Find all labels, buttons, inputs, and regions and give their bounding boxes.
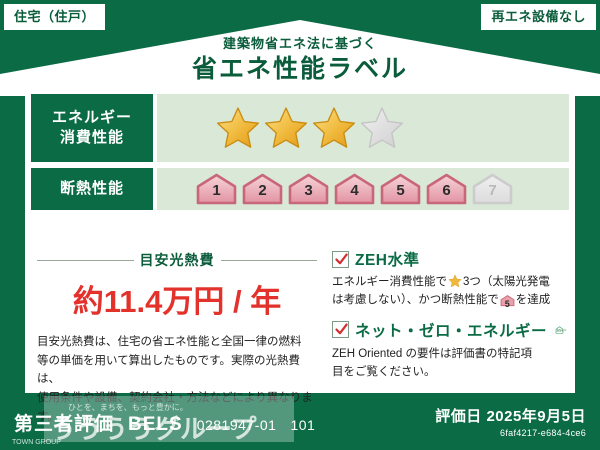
zeh-body-mid2: は考慮しない）、かつ断熱性能で — [332, 294, 499, 306]
check-item-net-zero-energy: ネット・ゼロ・エネルギー ZEH ZEH Oriented の要件は評価書の特記… — [332, 318, 567, 382]
footer-third-party-label: 第三者評価 — [14, 409, 114, 436]
cost-note-line1: 目安光熱費は、住宅の省エネ性能と全国一律の燃料 — [37, 333, 317, 352]
insulation-performance-value: 1234567 — [157, 168, 569, 210]
star-empty-icon — [359, 105, 405, 151]
footer-date-value: 2025年9月5日 — [486, 408, 586, 425]
svg-text:ZEH: ZEH — [557, 329, 563, 333]
check-body-zeh-level: エネルギー消費性能で3つ（太陽光発電 は考慮しない）、かつ断熱性能で5を達成 — [332, 273, 567, 314]
net-zero-line1: ZEH Oriented の要件は評価書の特記項 — [332, 345, 567, 363]
footer-right: 評価日 2025年9月5日 6faf4217-e684-4ce6 — [435, 405, 586, 438]
energy-label-line1: エネルギー — [52, 108, 132, 128]
watermark-subtext: TOWN GROUP — [12, 439, 61, 446]
check-title-net-zero: ネット・ゼロ・エネルギー — [355, 319, 547, 341]
footer-evaluation-date: 評価日 2025年9月5日 — [435, 405, 586, 426]
grade-value: 2 — [241, 182, 284, 199]
insulation-grade-filled: 5 — [379, 173, 422, 205]
check-item-zeh-level: ZEH水準 エネルギー消費性能で3つ（太陽光発電 は考慮しない）、かつ断熱性能で… — [332, 248, 567, 314]
insulation-grade-scale: 1234567 — [195, 173, 514, 205]
insulation-grade-filled: 2 — [241, 173, 284, 205]
insulation-grade-filled: 4 — [333, 173, 376, 205]
footer-date-label: 評価日 — [435, 408, 482, 425]
cost-column: 目安光熱費 約11.4万円 / 年 目安光熱費は、住宅の省エネ性能と全国一律の燃… — [25, 240, 325, 393]
energy-label-root: 住宅（住戸） 再エネ設備なし 建築物省エネ法に基づく 省エネ性能ラベル エネルギ… — [0, 0, 600, 450]
star-filled-icon — [311, 105, 357, 151]
grade-value: 5 — [379, 182, 422, 199]
check-head-net-zero: ネット・ゼロ・エネルギー ZEH — [332, 318, 567, 342]
zeh-logo-icon: ZEH — [555, 318, 567, 342]
energy-performance-label: エネルギー 消費性能 — [31, 94, 153, 162]
zeh-body-post: を達成 — [516, 294, 551, 306]
footer-uuid: 6faf4217-e684-4ce6 — [435, 428, 586, 438]
grade-value: 4 — [333, 182, 376, 199]
checkbox-checked-icon — [332, 251, 349, 268]
insulation-grade-filled: 1 — [195, 173, 238, 205]
energy-performance-value — [157, 94, 569, 162]
inline-grade-value: 5 — [500, 297, 515, 311]
cost-note-line2: 等の単価を用いて算出したものです。実際の光熱費は、 — [37, 352, 317, 389]
insulation-grade-filled: 3 — [287, 173, 330, 205]
rule-right — [221, 260, 318, 261]
net-zero-line2: 目をご覧ください。 — [332, 363, 567, 381]
zeh-body-pre: エネルギー消費性能で — [332, 276, 447, 288]
title-subtitle: 建築物省エネ法に基づく — [0, 36, 600, 52]
insulation-performance-label: 断熱性能 — [31, 168, 153, 210]
grade-value: 7 — [471, 182, 514, 199]
certification-column: ZEH水準 エネルギー消費性能で3つ（太陽光発電 は考慮しない）、かつ断熱性能で… — [325, 240, 575, 393]
rule-left — [37, 260, 134, 261]
footer-evaluation-number: 0281947-01 — [197, 417, 277, 433]
grade-value: 3 — [287, 182, 330, 199]
check-title-zeh-level: ZEH水準 — [355, 248, 420, 270]
badge-renewable-equipment: 再エネ設備なし — [481, 4, 596, 30]
energy-performance-row: エネルギー 消費性能 — [25, 88, 575, 162]
grade-value: 1 — [195, 182, 238, 199]
cost-heading-text: 目安光熱費 — [140, 250, 215, 270]
inline-star-icon — [448, 274, 462, 288]
checkbox-checked-icon — [332, 321, 349, 338]
star-filled-icon — [263, 105, 309, 151]
label-card: エネルギー 消費性能 断熱性能 1234567 目安光熱費 約11.4万 — [25, 88, 575, 393]
footer-bels-label: BELS — [128, 414, 183, 436]
check-head-zeh-level: ZEH水準 — [332, 248, 567, 270]
insulation-grade-empty: 7 — [471, 173, 514, 205]
title-block: 建築物省エネ法に基づく 省エネ性能ラベル — [0, 36, 600, 85]
check-body-net-zero: ZEH Oriented の要件は評価書の特記項 目をご覧ください。 — [332, 345, 567, 382]
footer: 第三者評価 BELS 0281947-01 101 評価日 2025年9月5日 … — [0, 393, 600, 450]
energy-label-line2: 消費性能 — [60, 128, 124, 148]
badge-dwelling-type: 住宅（住戸） — [4, 4, 105, 30]
cost-heading: 目安光熱費 — [37, 250, 317, 270]
insulation-performance-row: 断熱性能 1234567 — [25, 162, 575, 210]
footer-unit-number: 101 — [290, 417, 315, 433]
page-title: 省エネ性能ラベル — [0, 54, 600, 85]
cost-value: 約11.4万円 / 年 — [37, 276, 317, 321]
lower-section: 目安光熱費 約11.4万円 / 年 目安光熱費は、住宅の省エネ性能と全国一律の燃… — [25, 240, 575, 393]
star-rating — [215, 105, 405, 151]
insulation-grade-filled: 6 — [425, 173, 468, 205]
footer-left: 第三者評価 BELS 0281947-01 101 — [14, 409, 315, 436]
zeh-body-mid: 3つ（太陽光発電 — [463, 276, 550, 288]
star-filled-icon — [215, 105, 261, 151]
grade-value: 6 — [425, 182, 468, 199]
inline-grade-badge: 5 — [500, 294, 515, 313]
